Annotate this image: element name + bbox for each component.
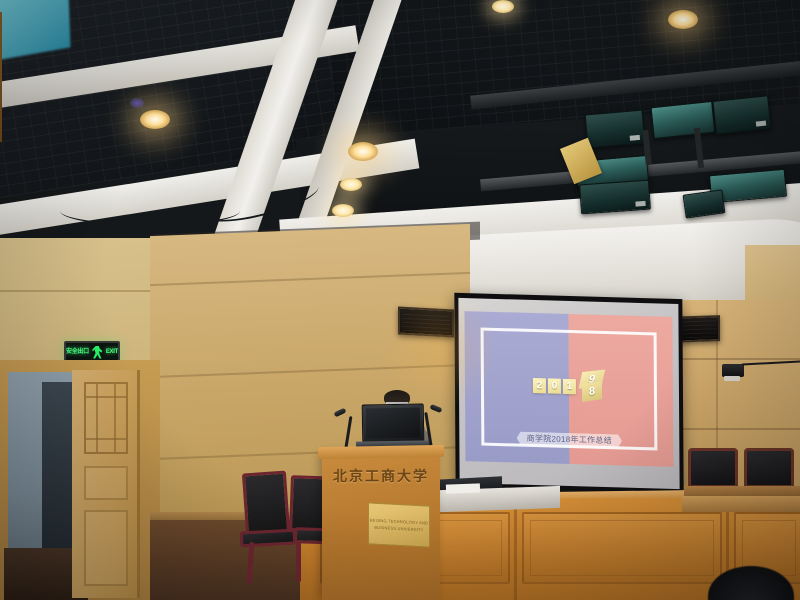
projection-screen: 2 0 1 9 8 商学院2018年工作总结 xyxy=(454,293,683,493)
stage-panel-seam xyxy=(514,498,517,600)
laptop-screen[interactable] xyxy=(362,403,425,442)
lattice-bar-bottom xyxy=(86,438,126,440)
stage-light-icon-1 xyxy=(585,110,646,149)
chair-leg-2 xyxy=(296,542,301,582)
exit-sign-chinese-label: 安全出口 xyxy=(66,349,89,355)
ceiling-downlight-icon-4 xyxy=(332,204,354,217)
chair-leg xyxy=(247,542,255,584)
ceiling-downlight-icon-1 xyxy=(140,110,170,129)
led-display-left xyxy=(398,307,454,338)
door-panel-lower xyxy=(84,510,128,586)
year-digit-3: 1 xyxy=(563,378,576,393)
slide-year-graphic: 2 0 1 9 8 xyxy=(533,372,605,400)
auditorium-seat-row xyxy=(688,448,800,510)
ceiling-downlight-icon-9 xyxy=(668,10,698,29)
exit-sign-english-label: EXIT xyxy=(106,349,118,355)
presentation-slide: 2 0 1 9 8 商学院2018年工作总结 xyxy=(464,311,673,467)
plaque-line-2: BUSINESS UNIVERSITY xyxy=(374,525,423,533)
podium-university-name: 北京工商大学 xyxy=(322,466,440,486)
door-panel-middle xyxy=(84,466,128,500)
seat-wood-ledge xyxy=(682,496,800,512)
lens-flare xyxy=(130,98,144,108)
door-lattice-panel xyxy=(84,382,128,454)
podium-side-face xyxy=(0,8,2,142)
chair-seat xyxy=(240,529,297,548)
flipping-cube-icon: 9 8 xyxy=(579,373,605,400)
stage-light-icon-2 xyxy=(650,101,715,139)
stage-wood-panel-2 xyxy=(522,512,722,584)
screen-surface: 2 0 1 9 8 商学院2018年工作总结 xyxy=(458,298,679,489)
fixture-label xyxy=(630,135,640,141)
podium-top-surface xyxy=(318,445,444,459)
running-man-icon xyxy=(92,346,103,359)
wall-mounted-camera-icon xyxy=(722,364,744,377)
fixture-label-3 xyxy=(756,121,766,127)
fixture-label-5 xyxy=(635,201,645,207)
auditorium-seat-2 xyxy=(744,448,794,488)
hallway-inner-door xyxy=(42,382,72,562)
ceiling-downlight-icon-3 xyxy=(340,178,362,191)
paper-document xyxy=(446,483,480,493)
wall-seam-3 xyxy=(150,272,470,286)
auditorium-seat-1 xyxy=(688,448,738,488)
year-digit-1: 2 xyxy=(533,377,546,392)
year-digit-2: 0 xyxy=(548,378,561,393)
chair-back xyxy=(242,471,290,536)
door-leaf[interactable] xyxy=(72,370,140,598)
led-grid-left xyxy=(402,311,450,334)
podium-plaque: BEIJING TECHNOLOGY AND BUSINESS UNIVERSI… xyxy=(368,502,430,547)
auditorium-photo: 安全出口 EXIT 2 0 1 xyxy=(0,0,800,600)
wall-seam-4 xyxy=(150,364,470,378)
ceiling-downlight-icon-8 xyxy=(492,0,514,13)
stage-light-icon-3 xyxy=(712,95,771,135)
stage-light-icon-5 xyxy=(579,180,651,215)
podium: 北京工商大学 BEIJING TECHNOLOGY AND BUSINESS U… xyxy=(322,452,440,600)
ceiling-downlight-icon-2 xyxy=(348,142,378,161)
cube-face-front: 8 xyxy=(582,381,602,402)
lattice-bar-top xyxy=(86,396,126,398)
